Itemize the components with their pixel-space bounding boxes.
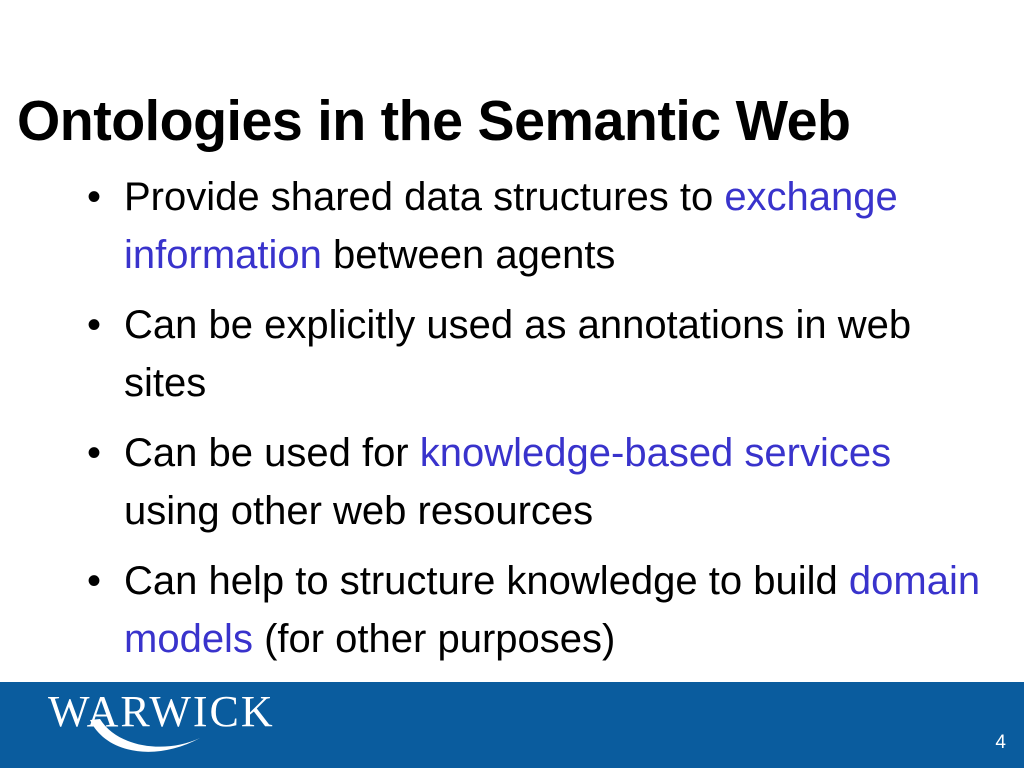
slide-canvas: Ontologies in the Semantic Web • Provide… [0,0,1024,768]
list-item: • Can be explicitly used as annotations … [84,296,984,412]
footer-bar: WARWICK 4 [0,682,1024,768]
page-number: 4 [995,732,1006,754]
warwick-logo: WARWICK [48,688,308,750]
list-item-text: Can be explicitly used as annotations in… [124,296,984,412]
bullet-dot-icon: • [87,552,111,610]
warwick-wordmark: WARWICK [48,688,275,736]
list-item-text: Can be used for knowledge-based services… [124,424,984,540]
bullet-dot-icon: • [87,296,111,354]
page-title: Ontologies in the Semantic Web [17,90,953,152]
text-segment: Can be used for [124,431,420,475]
text-segment: Provide shared data structures to [124,175,724,219]
list-item: • Provide shared data structures to exch… [84,168,984,284]
text-segment: between agents [322,233,616,277]
list-item-text: Provide shared data structures to exchan… [124,168,984,284]
bullet-dot-icon: • [87,424,111,482]
text-segment: using other web resources [124,489,593,533]
list-item: • Can be used for knowledge-based servic… [84,424,984,540]
text-segment: Can help to structure knowledge to build [124,559,849,603]
bullet-list: • Provide shared data structures to exch… [84,168,984,668]
list-item-text: Can help to structure knowledge to build… [124,552,984,668]
highlight-segment: knowledge-based services [420,431,891,475]
text-segment: (for other purposes) [253,617,615,661]
bullet-dot-icon: • [87,168,111,226]
text-segment: Can be explicitly used as annotations in… [124,303,911,405]
list-item: • Can help to structure knowledge to bui… [84,552,984,668]
